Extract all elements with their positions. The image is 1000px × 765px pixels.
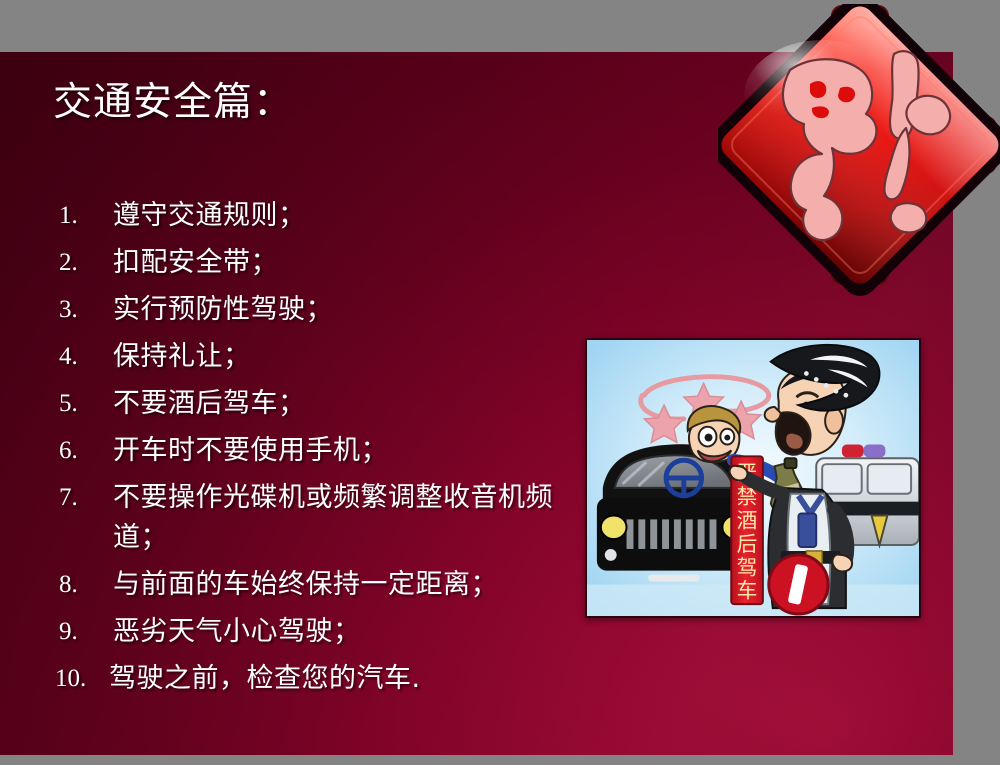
safety-tips-list: 1. 遵守交通规则； 2. 扣配安全带； 3. 实行预防性驾驶； 4. 保持礼让…: [55, 196, 585, 706]
page-title: 交通安全篇：: [53, 81, 293, 126]
svg-text:车: 车: [737, 578, 758, 602]
presentation-slide: 交通安全篇： 1. 遵守交通规则； 2. 扣配安全带； 3. 实行预防性驾驶； …: [0, 52, 953, 755]
list-item-number: 8.: [55, 565, 113, 605]
black-car: [597, 444, 751, 581]
list-item: 7. 不要操作光碟机或频繁调整收音机频道；: [55, 478, 585, 558]
list-item-number: 6.: [55, 431, 113, 471]
list-item-number: 3.: [55, 290, 113, 330]
list-item-label: 扣配安全带；: [113, 243, 585, 283]
list-item-number: 7.: [55, 478, 113, 518]
list-item-label: 与前面的车始终保持一定距离；: [113, 565, 585, 605]
list-item-label: 恶劣天气小心驾驶；: [113, 612, 585, 652]
list-item-label: 不要酒后驾车；: [113, 384, 585, 424]
list-item: 3. 实行预防性驾驶；: [55, 290, 585, 330]
list-item: 1. 遵守交通规则；: [55, 196, 585, 236]
list-item-label: 遵守交通规则；: [113, 196, 585, 236]
svg-text:驾: 驾: [737, 556, 758, 580]
stop-sign: [769, 555, 828, 614]
list-item: 10. 驾驶之前，检查您的汽车.: [55, 659, 585, 699]
list-item-number: 5.: [55, 384, 113, 424]
cartoon-illustration: 严 禁 酒 后 驾 车: [587, 340, 919, 616]
screenshot-canvas: 交通安全篇： 1. 遵守交通规则； 2. 扣配安全带； 3. 实行预防性驾驶； …: [0, 0, 1000, 765]
list-item-number: 1.: [55, 196, 113, 236]
list-item-label: 实行预防性驾驶；: [113, 290, 585, 330]
list-item-label: 开车时不要使用手机；: [113, 431, 585, 471]
svg-text:酒: 酒: [737, 508, 758, 532]
list-item-label: 不要操作光碟机或频繁调整收音机频道；: [113, 478, 585, 558]
list-item-number: 10.: [55, 659, 109, 699]
fu-character-diamond: [718, 4, 1000, 304]
list-item-number: 4.: [55, 337, 113, 377]
list-item: 5. 不要酒后驾车；: [55, 384, 585, 424]
list-item-label: 驾驶之前，检查您的汽车.: [109, 659, 585, 699]
svg-text:后: 后: [737, 532, 758, 556]
list-item: 9. 恶劣天气小心驾驶；: [55, 612, 585, 652]
list-item: 2. 扣配安全带；: [55, 243, 585, 283]
list-item-label: 保持礼让；: [113, 337, 585, 377]
drunk-driving-cartoon-image: 严 禁 酒 后 驾 车: [585, 338, 921, 618]
fu-diamond-ornament: [718, 4, 1000, 304]
list-item: 6. 开车时不要使用手机；: [55, 431, 585, 471]
list-item: 8. 与前面的车始终保持一定距离；: [55, 565, 585, 605]
list-item-number: 9.: [55, 612, 113, 652]
list-item-number: 2.: [55, 243, 113, 283]
list-item: 4. 保持礼让；: [55, 337, 585, 377]
